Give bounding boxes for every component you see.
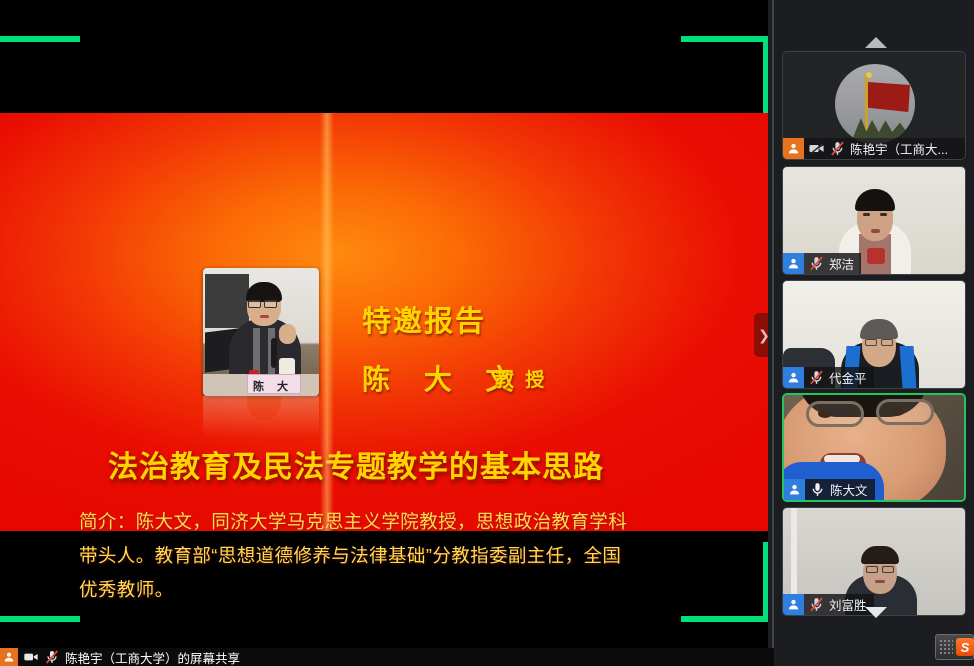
- decor-green-bracket-bottom-right-h: [681, 616, 769, 622]
- microphone-icon: [809, 481, 826, 498]
- slide-main-title: 法治教育及民法专题教学的基本思路: [108, 442, 668, 486]
- decor-green-bar-bottom-left: [0, 616, 80, 622]
- video-camera-icon: [23, 649, 39, 665]
- screen-share-label: 陈艳宇（工商大学）的屏幕共享: [65, 648, 240, 666]
- slide-speaker-title: 教 授: [495, 365, 547, 392]
- speaker-photo: 陈 大: [203, 268, 319, 438]
- presentation-slide: 陈 大 特邀报告 陈 大 文 教 授 法治教育及民法专题教学的基本思路 简: [0, 113, 768, 531]
- decor-green-bar-top-left: [0, 36, 80, 42]
- filmstrip-scroll-down-button[interactable]: [777, 598, 974, 626]
- intro-line-3: 优秀教师。: [79, 573, 694, 607]
- speaker-photo-image: 陈 大: [203, 268, 319, 396]
- participant-name: 陈大文: [830, 480, 868, 499]
- decor-green-bracket-top-right-h: [681, 36, 769, 42]
- screen-share-status-bar: 陈艳宇（工商大学）的屏幕共享: [0, 648, 774, 666]
- microphone-muted-icon: [808, 255, 825, 272]
- video-off-icon: [808, 140, 825, 157]
- intro-line-2: 带头人。教育部“思想道德修养与法律基础”分教指委副主任，全国: [79, 539, 694, 573]
- participant-nameplate: 郑洁: [783, 253, 861, 274]
- microphone-muted-icon: [829, 140, 846, 157]
- participant-name: 陈艳宇（工商大...: [850, 139, 948, 158]
- user-icon: [0, 648, 18, 666]
- drag-grip-icon[interactable]: [939, 639, 953, 655]
- speaker-photo-reflection: [203, 396, 319, 438]
- slide-invited-label: 特邀报告: [362, 298, 486, 340]
- shared-screen-region: 陈 大 特邀报告 陈 大 文 教 授 法治教育及民法专题教学的基本思路 简: [0, 0, 774, 666]
- intro-line-1: 简介：陈大文，同济大学马克思主义学院教授，思想政治教育学科: [79, 505, 694, 539]
- participant-tile[interactable]: 代金平: [782, 280, 966, 389]
- participant-tile[interactable]: 郑洁: [782, 166, 966, 275]
- triangle-up-icon: [865, 37, 887, 48]
- slide-intro-paragraph: 简介：陈大文，同济大学马克思主义学院教授，思想政治教育学科 带头人。教育部“思想…: [79, 505, 694, 607]
- microphone-muted-icon: [808, 369, 825, 386]
- participant-tile[interactable]: 陈艳宇（工商大...: [782, 51, 966, 160]
- panel-separator-line: [772, 0, 774, 666]
- sogou-logo-icon[interactable]: S: [956, 638, 974, 656]
- triangle-down-icon: [865, 607, 887, 618]
- ime-toolbar[interactable]: S: [935, 634, 974, 660]
- microphone-muted-icon: [44, 649, 60, 665]
- participant-filmstrip: 陈艳宇（工商大... 郑洁: [777, 0, 974, 666]
- participant-nameplate: 代金平: [783, 367, 874, 388]
- participant-tile-active-speaker[interactable]: 陈大文: [782, 393, 966, 502]
- user-icon: [783, 138, 804, 159]
- participant-name: 代金平: [829, 368, 867, 387]
- user-icon: [783, 367, 804, 388]
- participant-name: 郑洁: [829, 254, 854, 273]
- participant-nameplate: 陈大文: [784, 479, 875, 500]
- user-icon: [784, 479, 805, 500]
- participant-nameplate: 陈艳宇（工商大...: [783, 138, 965, 159]
- user-icon: [783, 253, 804, 274]
- zoom-meeting-window: 陈 大 特邀报告 陈 大 文 教 授 法治教育及民法专题教学的基本思路 简: [0, 0, 974, 666]
